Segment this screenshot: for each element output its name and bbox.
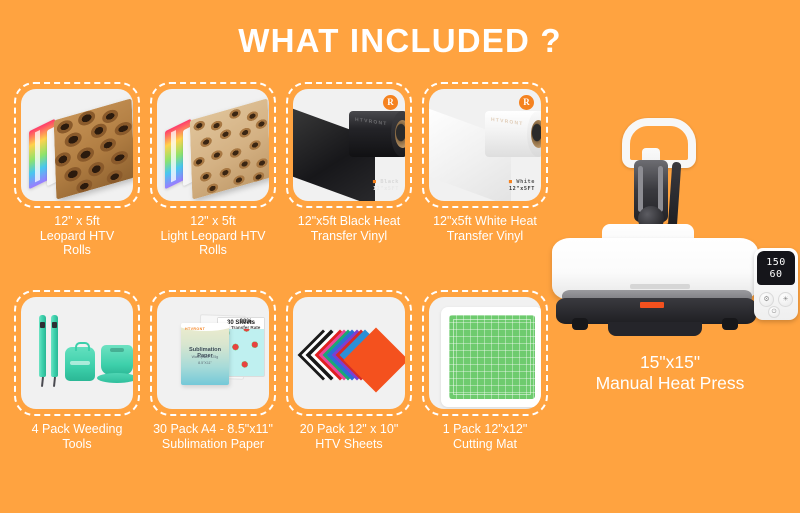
package-subtitle: Waterproof 125g <box>181 355 229 359</box>
roll-color-label: ■ Black <box>373 179 399 186</box>
card-image: 30 Sheets HTVRONT Sublimation Paper Wate… <box>157 297 269 409</box>
suction-cup-holder <box>101 345 133 375</box>
caption-line: Transfer Vinyl <box>422 229 548 244</box>
package-size: 8.5"X11" <box>181 361 229 365</box>
leopard-pattern <box>190 98 269 199</box>
card-image <box>429 297 541 409</box>
weeding-pen <box>39 315 46 377</box>
caption-line: 12" x 5ft <box>150 214 276 229</box>
r-logo-icon: R <box>383 95 398 110</box>
product-card-htv-sheets[interactable]: 20 Pack 12" x 10" HTV Sheets <box>286 290 412 451</box>
caption-line: Transfer Vinyl <box>286 229 412 244</box>
caption-line: 12"x5ft Black Heat <box>286 214 412 229</box>
caption-line: 12"x5ft White Heat <box>422 214 548 229</box>
leopard-roll-illustration <box>163 103 269 201</box>
controller-display: 150 60 <box>757 251 795 285</box>
htv-sheet-stack <box>301 323 405 397</box>
roll-color-name: Black <box>380 179 399 185</box>
leopard-roll-illustration <box>27 103 133 201</box>
caption-line: Cutting Mat <box>422 437 548 452</box>
product-card-white-heat-transfer-vinyl[interactable]: HTVRONT R ■ White 12"x5FT 12"x5ft White … <box>422 82 548 243</box>
tool-block-label <box>70 361 90 365</box>
roll-size-label: 12"x5FT <box>373 186 399 193</box>
transfer-rate-badge: 90% Transfer Rate <box>231 320 260 330</box>
product-card-black-heat-transfer-vinyl[interactable]: HTVRONT R ■ Black 12"x5FT 12"x5ft Black … <box>286 82 412 243</box>
product-card-light-leopard-htv-rolls[interactable]: 12" x 5ft Light Leopard HTV Rolls <box>150 82 276 258</box>
card-image: HTVRONT R ■ White 12"x5FT <box>429 89 541 201</box>
card-image: HTVRONT R ■ Black 12"x5FT <box>293 89 405 201</box>
card-frame <box>422 290 548 416</box>
card-image <box>157 89 269 201</box>
transfer-rate-label: Transfer Rate <box>231 325 260 330</box>
page-title: WHAT INCLUDED ? <box>0 22 800 60</box>
heat-press-caption: 15"x15" Manual Heat Press <box>540 352 800 394</box>
press-base-skirt <box>608 322 702 336</box>
product-card-cutting-mat[interactable]: 1 Pack 12"x12" Cutting Mat <box>422 290 548 451</box>
heat-press-illustration[interactable]: 150 60 ⚙ ☀ ⏻ <box>546 112 800 350</box>
tool-block <box>65 347 95 381</box>
card-caption: 30 Pack A4 - 8.5"x11" Sublimation Paper <box>150 422 276 451</box>
sublimation-paper-illustration: 30 Sheets HTVRONT Sublimation Paper Wate… <box>157 297 269 409</box>
card-frame <box>14 82 140 208</box>
card-frame <box>14 290 140 416</box>
card-image <box>21 89 133 201</box>
roll-size-label: 12"x5FT <box>509 186 535 193</box>
vinyl-core <box>531 120 541 148</box>
caption-line: 4 Pack Weeding <box>14 422 140 437</box>
roll-spec-tag: ■ Black 12"x5FT <box>373 179 399 193</box>
leopard-sheet <box>54 98 133 199</box>
vinyl-core <box>395 120 405 148</box>
mat-tab <box>479 309 501 314</box>
cutting-mat-illustration <box>441 307 541 407</box>
card-frame <box>150 82 276 208</box>
caption-line: Light Leopard HTV <box>150 229 276 244</box>
roll-color-label: ■ White <box>509 179 535 186</box>
caption-line: HTV Sheets <box>286 437 412 452</box>
product-card-weeding-tools[interactable]: 4 Pack Weeding Tools <box>14 290 140 451</box>
card-caption: 12" x 5ft Leopard HTV Rolls <box>14 214 140 258</box>
card-frame: HTVRONT R ■ White 12"x5FT <box>422 82 548 208</box>
controller-heat-button[interactable]: ☀ <box>778 292 793 307</box>
controller-settings-button[interactable]: ⚙ <box>759 292 774 307</box>
roll-color-name: White <box>516 179 535 185</box>
card-frame: 30 Sheets HTVRONT Sublimation Paper Wate… <box>150 290 276 416</box>
caption-line: Sublimation Paper <box>150 437 276 452</box>
caption-line: Tools <box>14 437 140 452</box>
roll-spec-tag: ■ White 12"x5FT <box>509 179 535 193</box>
leopard-sheet <box>190 98 269 199</box>
suction-cup-base <box>97 373 133 383</box>
product-card-sublimation-paper[interactable]: 30 Sheets HTVRONT Sublimation Paper Wate… <box>150 290 276 451</box>
caption-line: 1 Pack 12"x12" <box>422 422 548 437</box>
press-foot-right <box>722 318 738 330</box>
card-caption: 12" x 5ft Light Leopard HTV Rolls <box>150 214 276 258</box>
package-logo: HTVRONT <box>185 327 205 331</box>
temperature-readout: 150 <box>757 257 795 268</box>
card-frame <box>286 290 412 416</box>
card-caption: 12"x5ft Black Heat Transfer Vinyl <box>286 214 412 243</box>
card-caption: 1 Pack 12"x12" Cutting Mat <box>422 422 548 451</box>
card-caption: 12"x5ft White Heat Transfer Vinyl <box>422 214 548 243</box>
caption-line: Rolls <box>150 243 276 258</box>
card-image <box>21 297 133 409</box>
caption-line: 30 Pack A4 - 8.5"x11" <box>150 422 276 437</box>
press-pressure-rod <box>668 162 682 230</box>
press-base-badge <box>640 302 664 308</box>
card-caption: 4 Pack Weeding Tools <box>14 422 140 451</box>
press-brand-plate <box>630 284 690 289</box>
product-card-leopard-htv-rolls[interactable]: 12" x 5ft Leopard HTV Rolls <box>14 82 140 258</box>
r-logo-icon: R <box>519 95 534 110</box>
controller-power-button[interactable]: ⏻ <box>768 306 780 318</box>
leopard-pattern <box>54 98 133 199</box>
weeding-pen <box>51 315 58 377</box>
time-readout: 60 <box>757 269 795 280</box>
caption-line: Rolls <box>14 243 140 258</box>
press-foot-left <box>572 318 588 330</box>
press-controller[interactable]: 150 60 ⚙ ☀ ⏻ <box>754 248 798 320</box>
weeding-tools-illustration <box>21 297 133 409</box>
infographic-stage: WHAT INCLUDED ? 12" x 5ft Leopard HTV <box>0 0 800 513</box>
card-image <box>293 297 405 409</box>
caption-line: Manual Heat Press <box>540 373 800 394</box>
caption-line: 20 Pack 12" x 10" <box>286 422 412 437</box>
caption-line: Leopard HTV <box>14 229 140 244</box>
mat-grid-surface <box>449 315 535 399</box>
card-frame: HTVRONT R ■ Black 12"x5FT <box>286 82 412 208</box>
caption-line: 12" x 5ft <box>14 214 140 229</box>
caption-line: 15"x15" <box>540 352 800 373</box>
paper-package-front: HTVRONT Sublimation Paper Waterproof 125… <box>181 323 229 385</box>
card-caption: 20 Pack 12" x 10" HTV Sheets <box>286 422 412 451</box>
